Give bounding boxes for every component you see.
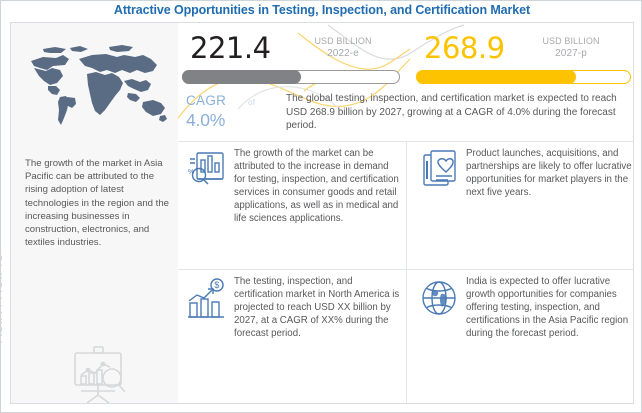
growth-chart-dollar-icon: $	[186, 277, 230, 321]
document-handshake-icon	[418, 149, 462, 193]
unit-text-2022: USD BILLION	[314, 36, 371, 46]
info-card-text: Product launches, acquisitions, and part…	[466, 147, 638, 199]
infographic-page: Attractive Opportunities in Testing, Ins…	[0, 0, 642, 413]
page-title: Attractive Opportunities in Testing, Ins…	[1, 3, 642, 17]
bar-chart-magnifier-icon: %	[186, 149, 230, 193]
presentation-chart-magnifier-icon	[65, 343, 135, 407]
info-card-partnerships: Product launches, acquisitions, and part…	[414, 147, 636, 275]
stat-unit-2022: USD BILLION 2022-e	[295, 36, 391, 59]
info-card-text: The testing, inspection, and certificati…	[234, 275, 402, 340]
stat-value-2022: 221.4	[190, 31, 271, 65]
bar-fill-2022	[182, 70, 301, 84]
stat-unit-2027: USD BILLION 2027-p	[521, 36, 621, 59]
unit-text-2027: USD BILLION	[542, 36, 599, 46]
svg-text:%: %	[188, 169, 194, 176]
info-card-text: India is expected to offer lucrative gro…	[466, 275, 638, 340]
cagr-label: CAGR	[186, 93, 226, 108]
summary-text: The global testing, inspection, and cert…	[286, 92, 634, 133]
sidebar-body-text: The growth of the market in Asia Pacific…	[25, 157, 173, 249]
divider-vertical	[406, 141, 407, 403]
world-map-icon	[17, 35, 172, 139]
globe-icon	[418, 277, 462, 321]
cagr-of-label: of	[248, 97, 255, 107]
info-card-india: India is expected to offer lucrative gro…	[414, 275, 636, 403]
info-card-text: The growth of the market can be attribut…	[234, 147, 402, 226]
stat-value-2027: 268.9	[424, 31, 505, 65]
year-text-2027: 2027-p	[521, 48, 621, 60]
svg-text:$: $	[214, 280, 219, 290]
year-text-2022: 2022-e	[295, 48, 391, 60]
info-card-north-america: $ The testing, inspection, and certifica…	[182, 275, 404, 403]
sidebar-panel: The growth of the market in Asia Pacific…	[11, 23, 178, 403]
info-card-growth: % The growth of the market can be attrib…	[182, 147, 404, 275]
bar-fill-2027	[416, 70, 576, 84]
region-label-asia-pacific: ASIA PACIFIC	[0, 247, 5, 343]
main-content: 221.4 USD BILLION 2022-e 268.9 USD BILLI…	[178, 23, 634, 403]
bar-track-2027	[416, 70, 631, 84]
bar-track-2022	[182, 70, 400, 84]
cagr-value: 4.0%	[186, 110, 225, 131]
